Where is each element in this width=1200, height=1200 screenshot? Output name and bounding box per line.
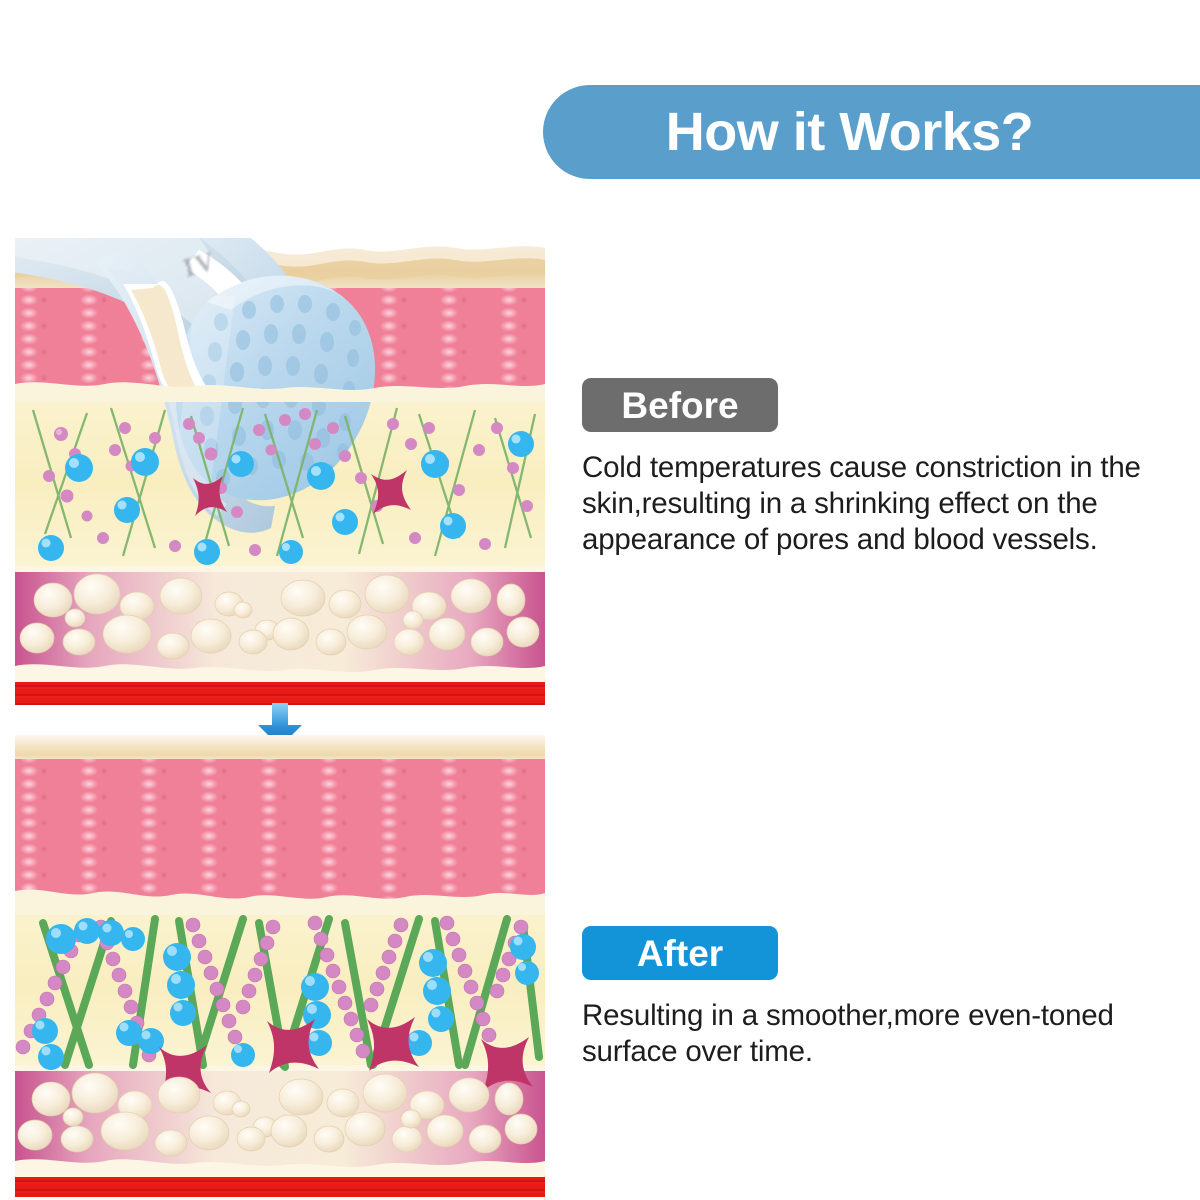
- dermis-cell-texture: [15, 288, 545, 392]
- before-badge: Before: [582, 378, 778, 432]
- header-banner: How it Works?: [543, 85, 1200, 179]
- muscle-layer-after: [15, 1171, 545, 1197]
- collagen-matrix-before: [15, 394, 545, 569]
- dermis-layer-after: [15, 759, 545, 907]
- after-badge: After: [582, 926, 778, 980]
- after-description: Resulting in a smoother,more even-toned …: [582, 998, 1194, 1070]
- page-title: How it Works?: [666, 105, 1034, 159]
- fat-layer-after: [15, 1071, 545, 1169]
- skin-cross-section-after: [15, 735, 545, 1197]
- collagen-matrix-after: [15, 905, 545, 1067]
- before-description: Cold temperatures cause constriction in …: [582, 450, 1194, 558]
- epidermis-layer-before: [15, 238, 545, 292]
- fat-layer-before: [15, 572, 545, 674]
- muscle-striation-texture: [15, 676, 545, 705]
- epidermis-layer-after: [15, 735, 545, 761]
- after-badge-label: After: [637, 935, 723, 972]
- muscle-layer-before: [15, 676, 545, 705]
- skin-cross-section-before: IV: [15, 238, 545, 705]
- poster-canvas: IV: [0, 0, 1200, 1200]
- muscle-striation-texture: [15, 1171, 545, 1197]
- dermis-cell-texture: [15, 759, 545, 907]
- dermis-layer-before: [15, 288, 545, 392]
- before-badge-label: Before: [621, 387, 738, 424]
